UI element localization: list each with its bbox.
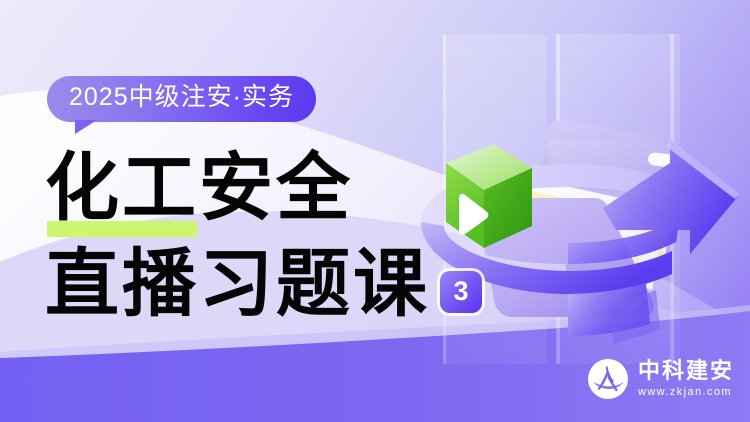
course-badge: 2025中级注安·实务 [47,76,316,122]
brand-name: 中科建安 [638,360,734,382]
brand-logo-text: 中科建安 www.zkjan.com [638,360,734,398]
title-line-2-row: 直播习题课 3 [45,248,482,323]
title-line-2: 直播习题课 [45,248,430,323]
zkjan-circle-logo-icon [587,358,629,400]
title-line-1: 化工安全 [45,152,353,227]
course-badge-label: 2025中级注安·实务 [47,76,316,122]
course-banner: 2025中级注安·实务 化工安全 直播习题课 3 中科建安 www.zkjan.… [0,0,750,422]
badge-tail [75,120,97,134]
brand-logo[interactable]: 中科建安 www.zkjan.com [587,358,734,400]
brand-url: www.zkjan.com [638,387,734,398]
episode-number-badge: 3 [440,271,482,313]
